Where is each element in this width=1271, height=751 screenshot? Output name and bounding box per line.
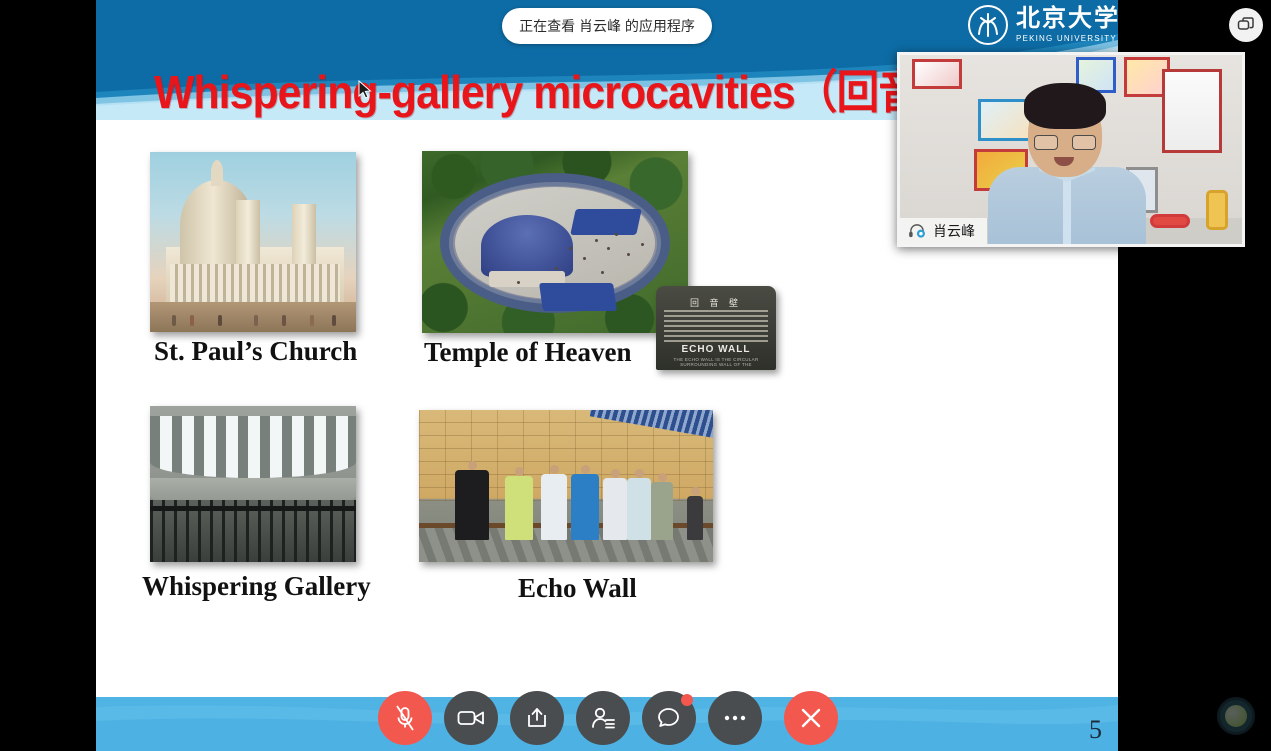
mute-button[interactable]	[378, 691, 432, 745]
presenter-face	[1028, 93, 1102, 177]
pku-seal-icon	[968, 5, 1008, 45]
participants-icon	[590, 706, 616, 730]
chat-bubble-icon	[657, 706, 681, 730]
self-video-panel[interactable]: 肖云峰	[897, 52, 1245, 247]
presenter-torso	[988, 167, 1146, 244]
participants-button[interactable]	[576, 691, 630, 745]
share-screen-button[interactable]	[510, 691, 564, 745]
chat-button[interactable]	[642, 691, 696, 745]
share-upload-icon	[525, 706, 549, 730]
microphone-muted-icon	[393, 704, 417, 732]
headset-icon	[908, 224, 926, 238]
more-button[interactable]	[708, 691, 762, 745]
chat-notification-badge	[681, 694, 693, 706]
leave-button[interactable]	[784, 691, 838, 745]
recording-indicator-icon	[1225, 705, 1247, 727]
plaque-title-cn: 回 音 壁	[656, 296, 776, 309]
video-scene	[900, 55, 1242, 244]
minimize-windows-button[interactable]	[1229, 8, 1263, 42]
figure-st-pauls-church	[150, 152, 356, 332]
meeting-toolbar	[378, 691, 838, 745]
plaque-subtitle-en: THE ECHO WALL IS THE CIRCULAR SURROUNDIN…	[656, 357, 776, 367]
pku-name-cn: 北京大学	[1016, 7, 1120, 31]
viewing-app-label: 正在查看 肖云峰 的应用程序	[519, 16, 695, 36]
video-button[interactable]	[444, 691, 498, 745]
figure-caption-st-pauls: St. Paul’s Church	[154, 336, 357, 367]
meeting-screen: Whispering-gallery microcavities（回音壁模式 S…	[0, 0, 1271, 751]
viewing-app-banner: 正在查看 肖云峰 的应用程序	[502, 8, 712, 44]
peking-university-logo: 北京大学 PEKING UNIVERSITY	[968, 3, 1120, 47]
figure-caption-echo-wall: Echo Wall	[518, 573, 637, 604]
pku-name-en: PEKING UNIVERSITY	[1016, 34, 1120, 43]
mouse-cursor	[358, 80, 372, 100]
close-x-icon	[798, 705, 824, 731]
figure-echo-wall-photo	[419, 410, 713, 562]
ellipsis-icon	[722, 714, 748, 722]
minimize-windows-icon	[1237, 16, 1255, 34]
camera-icon	[457, 708, 485, 728]
slide-page-number: 5	[1089, 715, 1102, 745]
figure-whispering-gallery	[150, 406, 356, 562]
participant-name-badge: 肖云峰	[900, 218, 987, 244]
figure-temple-of-heaven	[422, 151, 688, 333]
recording-indicator[interactable]	[1217, 697, 1255, 735]
figure-echo-wall-plaque: 回 音 壁 ECHO WALL THE ECHO WALL IS THE CIR…	[656, 286, 776, 370]
figure-caption-temple-of-heaven: Temple of Heaven	[424, 337, 631, 368]
participant-name: 肖云峰	[933, 221, 975, 241]
figure-caption-whispering-gallery: Whispering Gallery	[142, 571, 371, 602]
plaque-title-en: ECHO WALL	[656, 344, 776, 355]
